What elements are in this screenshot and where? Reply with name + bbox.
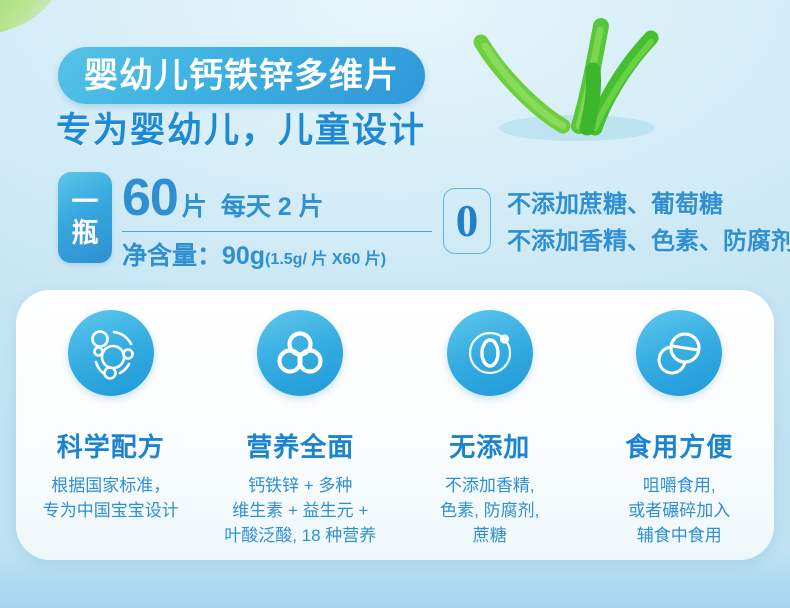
feature-title: 无添加 [449, 434, 530, 460]
feature-item-no-additives: 无添加 不添加香精, 色素, 防腐剂, 蔗糖 [395, 290, 585, 560]
feature-desc: 咀嚼食用, 或者碾碎加入 辅食中食用 [628, 473, 730, 548]
two-tablets-icon [636, 310, 722, 396]
feature-item-complete-nutrition: 营养全面 钙铁锌 + 多种 维生素 + 益生元 + 叶酸泛酸, 18 种营养 [206, 290, 396, 560]
bottle-badge-line-1: 一 [72, 187, 99, 217]
feature-desc: 根据国家标准， 专为中国宝宝设计 [43, 473, 179, 523]
trefoil-knot-icon [257, 310, 343, 396]
one-bottle-badge: 一 瓶 [58, 172, 112, 263]
feature-card: 科学配方 根据国家标准， 专为中国宝宝设计 营养全面 钙铁锌 + 多种 维生素 … [16, 290, 774, 560]
feature-item-scientific-formula: 科学配方 根据国家标准， 专为中国宝宝设计 [16, 290, 206, 560]
feature-desc: 钙铁锌 + 多种 维生素 + 益生元 + 叶酸泛酸, 18 种营养 [224, 473, 376, 548]
zero-additive-line-2: 不添加香精、色素、防腐剂 [507, 223, 790, 260]
product-title-text: 婴幼儿钙铁锌多维片 [84, 59, 399, 93]
tablet-count: 60 [122, 172, 178, 224]
page-subtitle: 专为婴幼儿，儿童设计 [56, 110, 426, 152]
zero-additive-line-1: 不添加蔗糖、葡萄糖 [507, 186, 790, 223]
feature-title: 科学配方 [57, 434, 165, 460]
net-weight-row: 净含量：90g (1.5g/ 片 X60 片) [122, 236, 438, 272]
zero-orbit-icon [447, 310, 533, 396]
spec-count-row: 60 片 每天 2 片 [122, 172, 438, 224]
tablet-count-unit: 片 [182, 195, 207, 224]
feature-item-easy-to-take: 食用方便 咀嚼食用, 或者碾碎加入 辅食中食用 [585, 290, 775, 560]
spec-divider [122, 231, 432, 232]
daily-dose: 每天 2 片 [221, 195, 324, 224]
net-weight-detail: (1.5g/ 片 X60 片) [265, 245, 386, 269]
feature-title: 食用方便 [625, 434, 733, 460]
feature-desc: 不添加香精, 色素, 防腐剂, 蔗糖 [440, 473, 539, 548]
zero-additive-text: 不添加蔗糖、葡萄糖 不添加香精、色素、防腐剂 [507, 186, 790, 260]
spec-block: 60 片 每天 2 片 净含量：90g (1.5g/ 片 X60 片) [122, 172, 438, 272]
zero-additive-badge: 0 [443, 188, 491, 254]
bottle-badge-line-2: 瓶 [72, 218, 99, 248]
feature-title: 营养全面 [246, 434, 354, 460]
grass-sprout-icon [455, 8, 685, 163]
net-weight-label: 净含量：90g [122, 236, 265, 272]
molecule-icon [68, 310, 154, 396]
product-title-badge: 婴幼儿钙铁锌多维片 [58, 47, 425, 104]
